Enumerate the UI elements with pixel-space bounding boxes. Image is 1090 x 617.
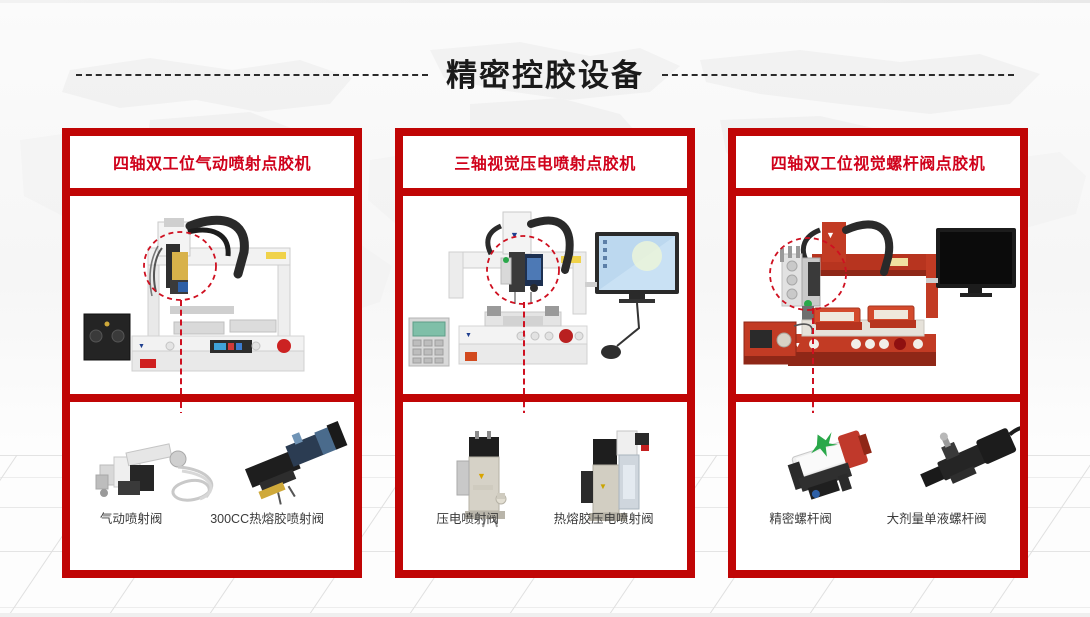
product-card-piezo[interactable]: 三轴视觉压电喷射点胶机 ▼ bbox=[395, 128, 695, 578]
valve-label: 热熔胶压电喷射阀 bbox=[554, 508, 654, 527]
page-root: 精密控胶设备 四轴双工位气动喷射点胶机 bbox=[0, 0, 1090, 617]
title-dash-right bbox=[662, 74, 1014, 76]
product-card-screw-valve[interactable]: 四轴双工位视觉螺杆阀点胶机 ▼ bbox=[728, 128, 1028, 578]
callout-drop-line bbox=[523, 302, 525, 394]
svg-text:▼: ▼ bbox=[599, 482, 607, 491]
machine-photo-pneumatic: ▼ bbox=[70, 196, 354, 394]
valve-label: 气动喷射阀 bbox=[100, 508, 163, 527]
svg-text:▼: ▼ bbox=[477, 471, 486, 481]
valve-label-row: 精密螺杆阀 大剂量单液螺杆阀 bbox=[736, 508, 1020, 527]
valve-label: 压电喷射阀 bbox=[436, 508, 499, 527]
valve-panel: 精密螺杆阀 大剂量单液螺杆阀 bbox=[736, 402, 1020, 570]
product-card-pneumatic[interactable]: 四轴双工位气动喷射点胶机 bbox=[62, 128, 362, 578]
callout-drop-line bbox=[180, 300, 182, 394]
section-title-row: 精密控胶设备 bbox=[0, 52, 1090, 98]
card-header: 四轴双工位气动喷射点胶机 bbox=[70, 136, 354, 188]
valve-label: 300CC热熔胶喷射阀 bbox=[210, 508, 324, 527]
machine-photo-screw-valve: ▼ bbox=[736, 196, 1020, 394]
valve-label-row: 气动喷射阀 300CC热熔胶喷射阀 bbox=[70, 508, 354, 527]
product-card-grid: 四轴双工位气动喷射点胶机 bbox=[62, 128, 1028, 578]
card-title: 三轴视觉压电喷射点胶机 bbox=[454, 150, 636, 174]
card-header: 三轴视觉压电喷射点胶机 bbox=[403, 136, 687, 188]
card-title: 四轴双工位气动喷射点胶机 bbox=[113, 150, 311, 174]
svg-text:▼: ▼ bbox=[138, 343, 145, 350]
card-header: 四轴双工位视觉螺杆阀点胶机 bbox=[736, 136, 1020, 188]
page-title: 精密控胶设备 bbox=[446, 60, 644, 91]
valve-label-row: 压电喷射阀 热熔胶压电喷射阀 bbox=[403, 508, 687, 527]
svg-text:▼: ▼ bbox=[465, 332, 472, 339]
svg-text:▼: ▼ bbox=[826, 230, 835, 240]
card-title: 四轴双工位视觉螺杆阀点胶机 bbox=[771, 150, 986, 174]
machine-photo-piezo: ▼ bbox=[403, 196, 687, 394]
valve-label: 大剂量单液螺杆阀 bbox=[887, 508, 987, 527]
valve-panel: 气动喷射阀 300CC热熔胶喷射阀 bbox=[70, 402, 354, 570]
valve-label: 精密螺杆阀 bbox=[769, 508, 832, 527]
bottom-divider-line bbox=[0, 613, 1090, 617]
title-dash-left bbox=[76, 74, 428, 76]
callout-drop-line bbox=[812, 308, 814, 394]
svg-text:▼: ▼ bbox=[510, 230, 519, 240]
valve-panel: ▼ bbox=[403, 402, 687, 570]
